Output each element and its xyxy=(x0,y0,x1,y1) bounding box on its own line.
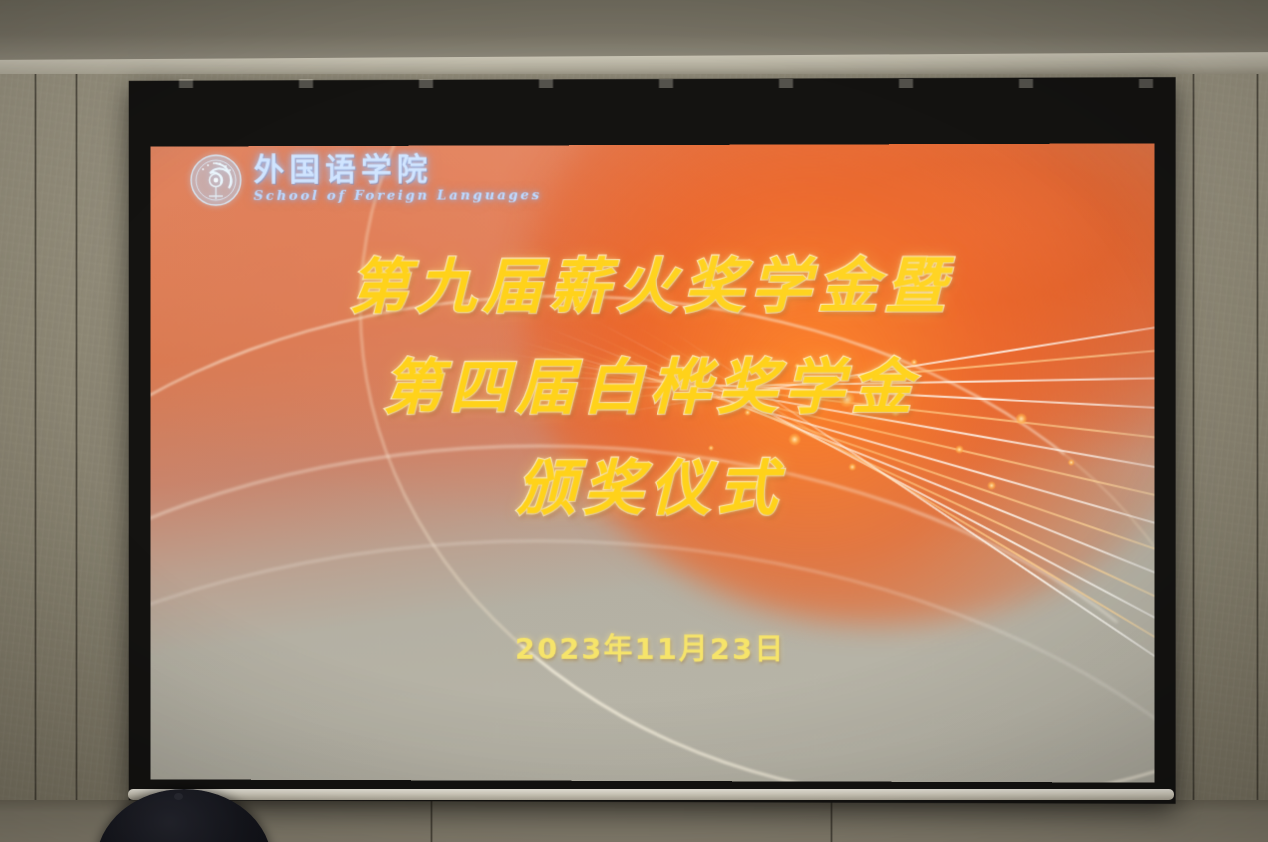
title-line-3: 颁奖仪式 xyxy=(151,459,1155,519)
slide-title: 第九届薪火奖学金暨 第四届白桦奖学金 颁奖仪式 xyxy=(151,256,1155,519)
title-line-2: 第四届白桦奖学金 xyxy=(151,357,1155,418)
slide-date: 2023年11月23日 xyxy=(151,625,1155,669)
wall-panel-seam xyxy=(430,800,433,842)
wall-panel-seam xyxy=(34,74,37,842)
school-name-en: School of Foreign Languages xyxy=(254,187,542,204)
school-name-cn: 外国语学院 xyxy=(254,153,542,186)
wall-panel-seam xyxy=(1256,74,1259,842)
wall-panel-seam xyxy=(830,800,833,842)
school-logo: 外国语学院 School of Foreign Languages xyxy=(188,151,542,208)
projected-slide: 外国语学院 School of Foreign Languages 第九届薪火奖… xyxy=(151,143,1155,782)
school-logo-text: 外国语学院 School of Foreign Languages xyxy=(254,151,542,203)
room-scene: 外国语学院 School of Foreign Languages 第九届薪火奖… xyxy=(0,0,1268,842)
school-emblem-icon xyxy=(188,152,244,208)
wall-panel-seam xyxy=(1192,74,1195,842)
wall-panel-seam xyxy=(75,74,78,842)
title-line-1: 第九届薪火奖学金暨 xyxy=(151,256,1155,318)
cap-button xyxy=(174,793,183,800)
screen-top-clips xyxy=(126,79,1173,88)
screen-weight-bar xyxy=(128,789,1174,800)
